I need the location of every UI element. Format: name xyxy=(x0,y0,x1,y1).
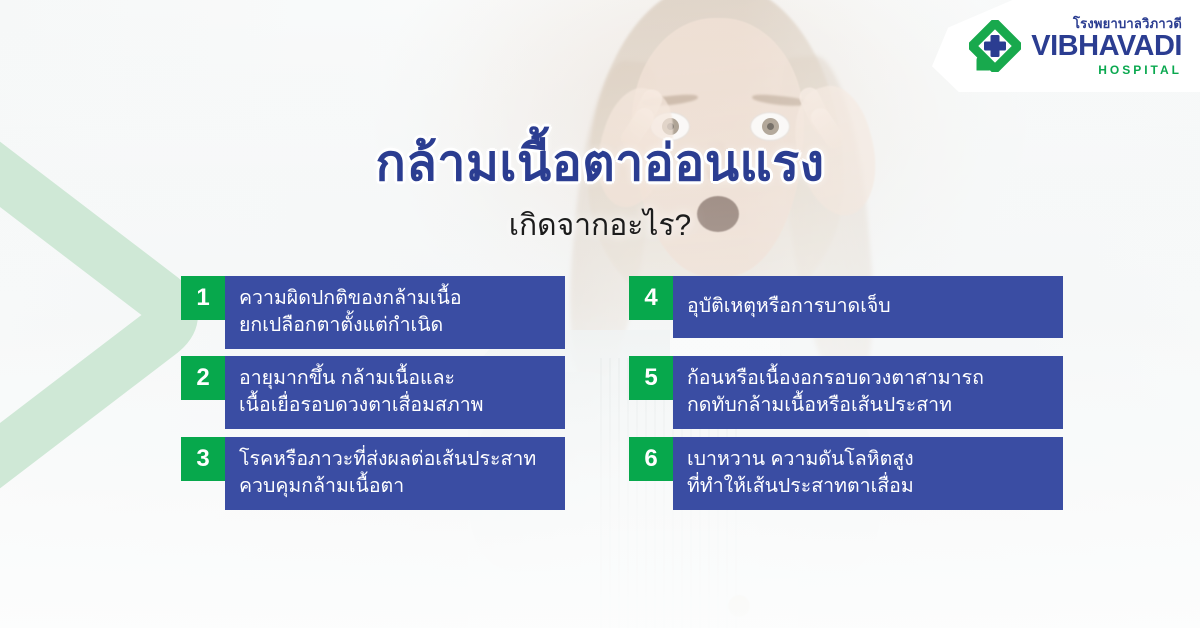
item-text: โรคหรือภาวะที่ส่งผลต่อเส้นประสาท ควบคุมก… xyxy=(225,437,565,510)
item-text-line: ยกเปลือกตาตั้งแต่กำเนิด xyxy=(239,312,551,339)
list-item: 3 โรคหรือภาวะที่ส่งผลต่อเส้นประสาท ควบคุ… xyxy=(181,437,565,510)
item-text-line: ความผิดปกติของกล้ามเนื้อ xyxy=(239,285,551,312)
item-number: 6 xyxy=(629,437,673,481)
list-item: 6 เบาหวาน ความดันโลหิตสูง ที่ทำให้เส้นปร… xyxy=(629,437,1063,510)
list-item: 1 ความผิดปกติของกล้ามเนื้อ ยกเปลือกตาตั้… xyxy=(181,276,565,349)
item-number: 1 xyxy=(181,276,225,320)
item-text-line: ก้อนหรือเนื้องอกรอบดวงตาสามารถ xyxy=(687,365,1049,392)
item-text: อายุมากขึ้น กล้ามเนื้อและ เนื้อเยื่อรอบด… xyxy=(225,356,565,429)
list-item: 4 อุบัติเหตุหรือการบาดเจ็บ xyxy=(629,276,1063,338)
item-text: ความผิดปกติของกล้ามเนื้อ ยกเปลือกตาตั้งแ… xyxy=(225,276,565,349)
item-text-line: อุบัติเหตุหรือการบาดเจ็บ xyxy=(687,293,1049,320)
poster-canvas: โรงพยาบาลวิภาวดี VIBHAVADI HOSPITAL กล้า… xyxy=(0,0,1200,628)
item-text-line: โรคหรือภาวะที่ส่งผลต่อเส้นประสาท xyxy=(239,446,551,473)
item-text-line: กดทับกล้ามเนื้อหรือเส้นประสาท xyxy=(687,392,1049,419)
item-number: 2 xyxy=(181,356,225,400)
item-text: เบาหวาน ความดันโลหิตสูง ที่ทำให้เส้นประส… xyxy=(673,437,1063,510)
item-number: 3 xyxy=(181,437,225,481)
item-text: ก้อนหรือเนื้องอกรอบดวงตาสามารถ กดทับกล้า… xyxy=(673,356,1063,429)
list-item: 2 อายุมากขึ้น กล้ามเนื้อและ เนื้อเยื่อรอ… xyxy=(181,356,565,429)
item-text-line: เบาหวาน ความดันโลหิตสูง xyxy=(687,446,1049,473)
item-text-line: อายุมากขึ้น กล้ามเนื้อและ xyxy=(239,365,551,392)
item-text-line: ควบคุมกล้ามเนื้อตา xyxy=(239,473,551,500)
item-text-line: เนื้อเยื่อรอบดวงตาเสื่อมสภาพ xyxy=(239,392,551,419)
item-number: 4 xyxy=(629,276,673,320)
item-number: 5 xyxy=(629,356,673,400)
cause-list: 1 ความผิดปกติของกล้ามเนื้อ ยกเปลือกตาตั้… xyxy=(0,0,1200,628)
list-item: 5 ก้อนหรือเนื้องอกรอบดวงตาสามารถ กดทับกล… xyxy=(629,356,1063,429)
item-text: อุบัติเหตุหรือการบาดเจ็บ xyxy=(673,276,1063,338)
item-text-line: ที่ทำให้เส้นประสาทตาเสื่อม xyxy=(687,473,1049,500)
